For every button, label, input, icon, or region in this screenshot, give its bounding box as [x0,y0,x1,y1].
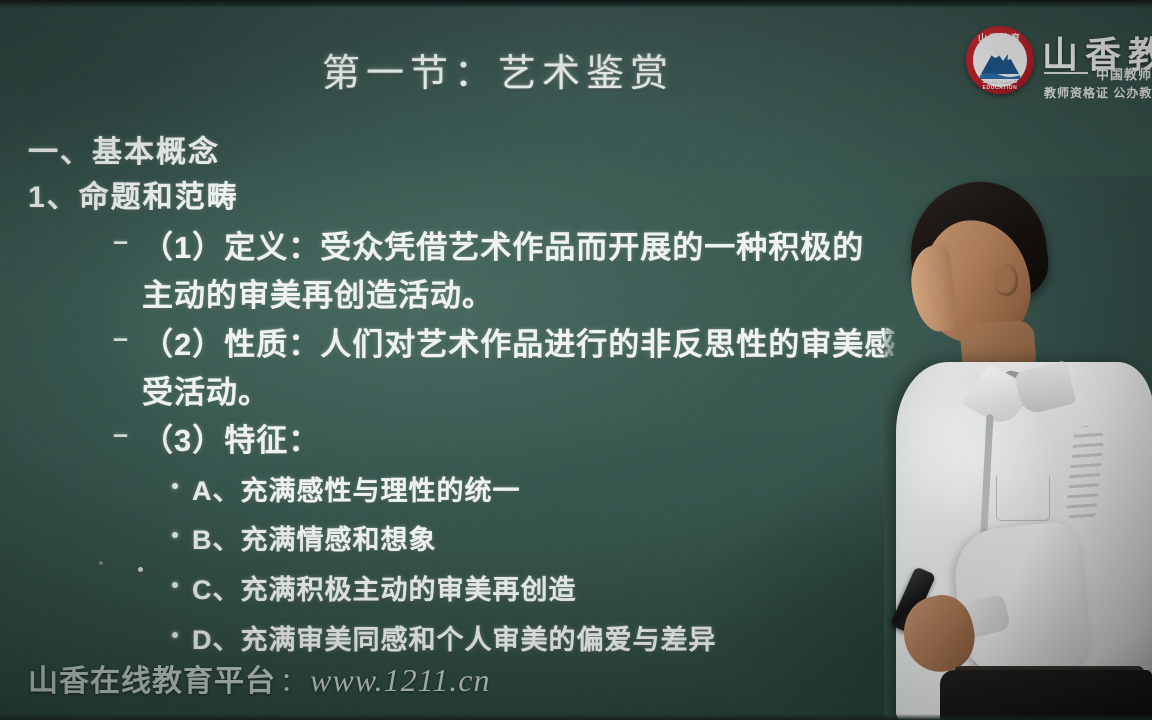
mountain-icon [978,42,1022,80]
sub-bullet-dot-d [172,632,178,638]
logo-divider-rule [1044,72,1088,74]
feature-item-c: C、充满积极主动的审美再创造 [192,568,577,607]
sub-bullet-dot-b [172,532,178,538]
watermark-separator: ： [278,662,308,699]
logo-subtitle-right: 中国教师一 [1096,64,1152,83]
presenter-shirt-pocket [996,476,1050,521]
presenter-figure [884,176,1152,720]
bullet-2-line-1: （2）性质：人们对艺术作品进行的非反思性的审美感 [142,319,896,364]
feature-item-d: D、充满审美同感和个人审美的偏爱与差异 [192,618,717,657]
bullet-3-line-1: （3）特征： [142,415,320,460]
letterbox-top [0,0,1152,8]
watermark-platform-name: 山香在线教育平台 [28,656,276,700]
feature-item-a: A、充满感性与理性的统一 [192,469,521,508]
watermark-url: www.1211.cn [310,662,490,699]
slide-title: 第一节：艺术鉴赏 [322,42,674,97]
feature-item-b: B、充满情感和想象 [192,518,437,557]
logo-subtitle-bottom: 教师资格证 公办教师招 [1044,84,1152,101]
bullet-1-line-1: （1）定义：受众凭借艺术作品而开展的一种积极的 [142,222,864,267]
bullet-dash-1: – [113,226,128,257]
chalk-speck [99,561,103,565]
sub-bullet-dot-a [172,483,178,489]
bullet-dash-2: – [113,323,128,354]
logo-badge: 山香教育 SHANXIANG EDUCATION [966,26,1034,94]
bullet-1-line-2: 主动的审美再创造活动。 [142,270,494,315]
watermark: 山香在线教育平台 ： www.1211.cn [28,656,491,700]
presenter-ear [994,264,1018,296]
letterbox-bottom [0,714,1152,720]
brand-logo: 山香教育 SHANXIANG EDUCATION 山香教育 中国教师一 教师资格… [966,22,1152,100]
lecture-video-frame: 第一节：艺术鉴赏 一、基本概念 1、命题和范畴 – （1）定义：受众凭借艺术作品… [0,0,1152,720]
sub-heading: 1、命题和范畴 [28,172,239,216]
sub-bullet-dot-c [172,582,178,588]
bullet-dash-3: – [113,419,128,450]
section-heading: 一、基本概念 [28,127,220,171]
presenter-trousers [940,670,1152,720]
logo-badge-bottom-text: SHANXIANG EDUCATION [966,79,1034,91]
bullet-2-line-2: 受活动。 [142,367,270,412]
chalk-speck [138,567,143,572]
